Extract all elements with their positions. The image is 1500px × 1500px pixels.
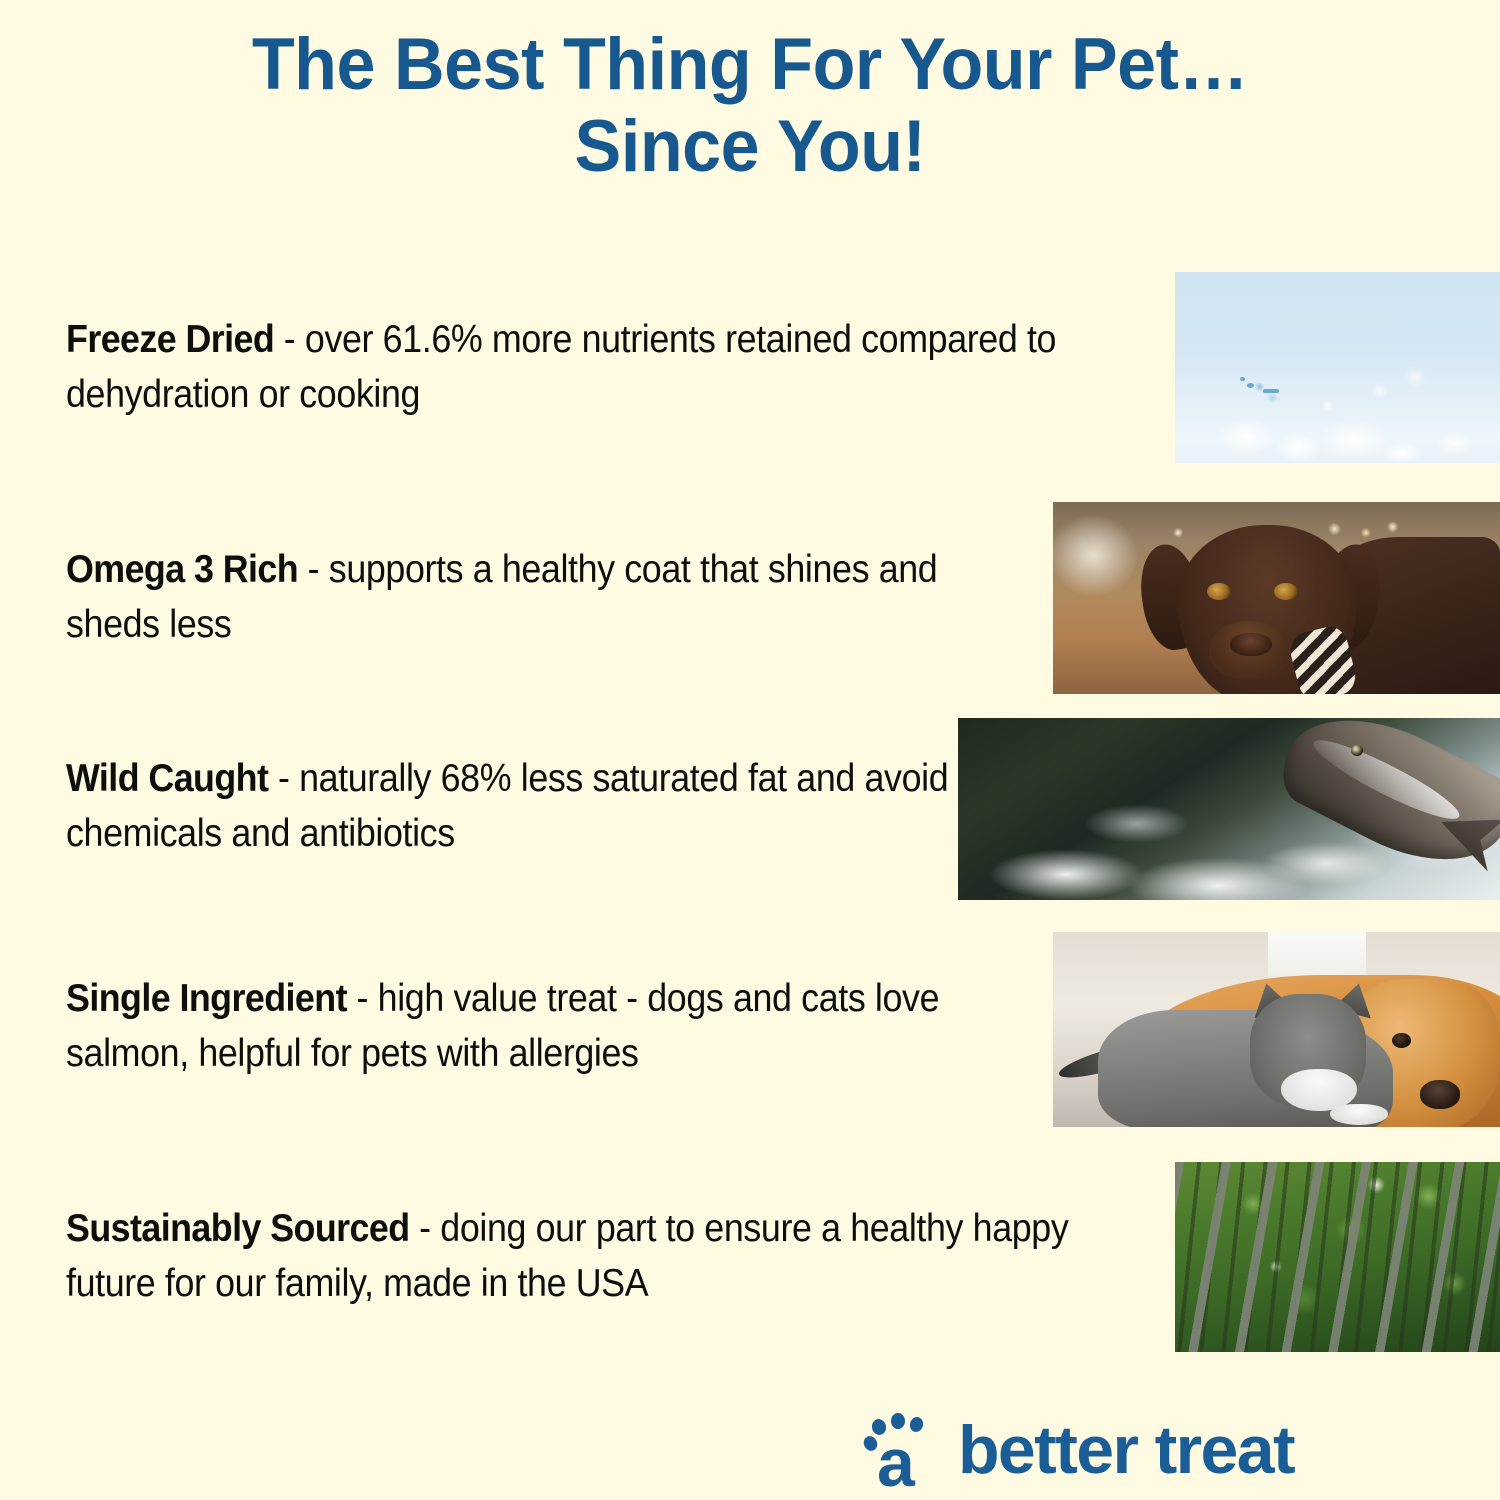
green-forest-photo bbox=[1175, 1162, 1500, 1352]
salmon-eye-shape bbox=[1351, 745, 1363, 756]
feature-omega-3-rich: Omega 3 Rich - supports a healthy coat t… bbox=[66, 543, 1005, 652]
headline-line-2: Since You! bbox=[30, 110, 1470, 184]
feature-separator: - bbox=[274, 318, 305, 361]
ice-crystals-photo-surface bbox=[1175, 272, 1500, 463]
dog-eye-right-shape bbox=[1274, 583, 1298, 600]
feature-title-sustainably-sourced: Sustainably Sourced bbox=[66, 1207, 410, 1250]
feature-separator: - bbox=[410, 1207, 441, 1250]
cat-and-dog-photo bbox=[1053, 932, 1500, 1127]
dog-eye-left-shape bbox=[1207, 583, 1231, 600]
feature-title-omega-3-rich: Omega 3 Rich bbox=[66, 548, 298, 591]
green-forest-photo-surface bbox=[1175, 1162, 1500, 1352]
feature-freeze-dried: Freeze Dried - over 61.6% more nutrients… bbox=[66, 313, 1080, 422]
feature-title-single-ingredient: Single Ingredient bbox=[66, 977, 347, 1020]
ice-crystals-photo bbox=[1175, 272, 1500, 463]
feature-wild-caught: Wild Caught - naturally 68% less saturat… bbox=[66, 752, 959, 861]
feature-sustainably-sourced: Sustainably Sourced - doing our part to … bbox=[66, 1202, 1149, 1311]
feature-separator: - bbox=[268, 757, 299, 800]
logo-wordmark: better treat bbox=[958, 1416, 1294, 1488]
feature-separator: - bbox=[298, 548, 329, 591]
retriever-nose-shape bbox=[1420, 1080, 1460, 1109]
ice-sparkle-icon bbox=[1263, 389, 1279, 393]
feature-title-freeze-dried: Freeze Dried bbox=[66, 318, 274, 361]
paw-print-a-icon: a bbox=[862, 1412, 938, 1492]
headline-line-1: The Best Thing For Your Pet… bbox=[30, 28, 1470, 102]
feature-single-ingredient: Single Ingredient - high value treat - d… bbox=[66, 972, 1024, 1081]
leaping-salmon-photo bbox=[958, 718, 1500, 900]
retriever-eye-shape bbox=[1392, 1033, 1411, 1048]
cat-paw-shape bbox=[1330, 1104, 1388, 1125]
infographic-canvas: The Best Thing For Your Pet… Since You! … bbox=[0, 0, 1500, 1500]
brand-logo[interactable]: a better treat bbox=[862, 1404, 1294, 1500]
feature-title-wild-caught: Wild Caught bbox=[66, 757, 268, 800]
ice-sparkle-icon bbox=[1247, 383, 1254, 388]
dog-nose-shape bbox=[1230, 633, 1272, 656]
logo-letter-a: a bbox=[877, 1434, 914, 1492]
page-title: The Best Thing For Your Pet… Since You! bbox=[30, 28, 1470, 185]
chocolate-labrador-photo bbox=[1053, 502, 1500, 694]
feature-separator: - bbox=[347, 977, 378, 1020]
